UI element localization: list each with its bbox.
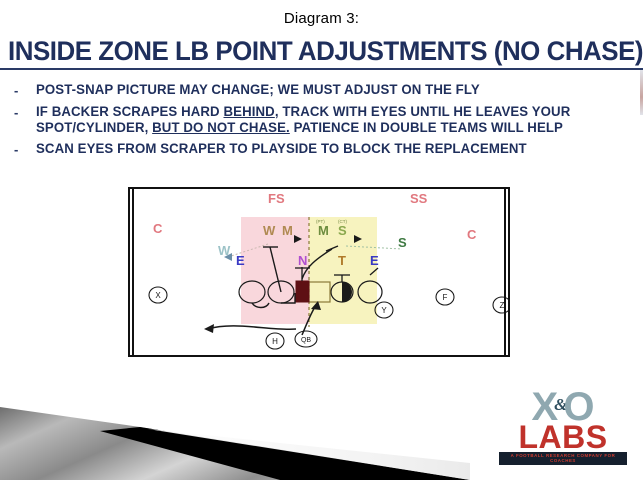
marker-z-label: Z (500, 301, 505, 310)
logo-tagline: A FOOTBALL RESEARCH COMPANY FOR COACHES (499, 452, 627, 465)
label-e-right: E (370, 253, 379, 268)
wedge-black (100, 427, 470, 480)
marker-h: H (266, 333, 284, 349)
wedge-silver (0, 407, 470, 480)
bullet-span: PATIENCE IN DOUBLE TEAMS WILL HELP (290, 120, 563, 135)
marker-h-label: H (272, 337, 278, 346)
bullet-emphasis: BUT DO NOT CHASE. (152, 120, 290, 135)
label-ss: SS (410, 191, 428, 206)
label-m-box: M (282, 223, 293, 238)
label-s-wide: S (398, 235, 407, 250)
list-item: - SCAN EYES FROM SCRAPER TO PLAYSIDE TO … (14, 141, 629, 158)
bullet-text-2: IF BACKER SCRAPES HARD BEHIND, TRACK WIT… (36, 104, 617, 136)
label-w-wide: W (218, 243, 231, 258)
football-play-diagram: (PT)(CT) FSSSCCWWMMSSENTE XYFZHQB (128, 187, 510, 357)
label-t: T (338, 253, 346, 268)
title-underline-rule (0, 68, 643, 70)
logo-xo-row: X&O (492, 390, 634, 424)
marker-x-label: X (155, 291, 161, 300)
marker-f-label: F (443, 293, 448, 302)
marker-f: F (436, 289, 454, 305)
label-n: N (298, 253, 307, 268)
page-title: INSIDE ZONE LB POINT ADJUSTMENTS (NO CHA… (8, 36, 643, 66)
bullet-marker-icon: - (14, 104, 36, 121)
bullet-span: POST-SNAP PICTURE MAY CHANGE; WE MUST AD… (36, 82, 480, 97)
marker-y-label: Y (381, 306, 387, 315)
label-m-play: M (318, 223, 329, 238)
label-e-left: E (236, 253, 245, 268)
slide-title-bar: INSIDE ZONE LB POINT ADJUSTMENTS (NO CHA… (8, 36, 643, 66)
label-fs: FS (268, 191, 285, 206)
bullet-span: SCAN EYES FROM SCRAPER TO PLAYSIDE TO BL… (36, 141, 527, 156)
path-h-motion (208, 326, 296, 329)
bullet-text-3: SCAN EYES FROM SCRAPER TO PLAYSIDE TO BL… (36, 141, 527, 157)
bullet-emphasis: BEHIND (224, 104, 275, 119)
dl-nose-block (296, 281, 309, 302)
label-w-box: W (263, 223, 276, 238)
play-diagram-svg: (PT)(CT) FSSSCCWWMMSSENTE XYFZHQB (130, 189, 508, 355)
bullet-span: IF BACKER SCRAPES HARD (36, 104, 224, 119)
arrowhead-h (204, 324, 214, 333)
logo-letter-o: O (563, 390, 594, 424)
bullet-list: - POST-SNAP PICTURE MAY CHANGE; WE MUST … (14, 82, 629, 163)
bullet-marker-icon: - (14, 141, 36, 158)
label-c-left: C (153, 221, 163, 236)
bottom-wedge-decoration (0, 385, 470, 480)
bullet-text-1: POST-SNAP PICTURE MAY CHANGE; WE MUST AD… (36, 82, 480, 98)
marker-y: Y (375, 302, 393, 318)
xo-labs-logo: X&O LABS A FOOTBALL RESEARCH COMPANY FOR… (492, 390, 634, 454)
label-c-right: C (467, 227, 477, 242)
bullet-marker-icon: - (14, 82, 36, 99)
list-item: - POST-SNAP PICTURE MAY CHANGE; WE MUST … (14, 82, 629, 99)
marker-qb-label: QB (301, 337, 311, 344)
marker-qb: QB (295, 331, 317, 347)
marker-x: X (149, 287, 167, 303)
diagram-caption: Diagram 3: (0, 10, 643, 27)
list-item: - IF BACKER SCRAPES HARD BEHIND, TRACK W… (14, 104, 629, 136)
wedge-light (148, 429, 470, 480)
label-s-play: S (338, 223, 347, 238)
